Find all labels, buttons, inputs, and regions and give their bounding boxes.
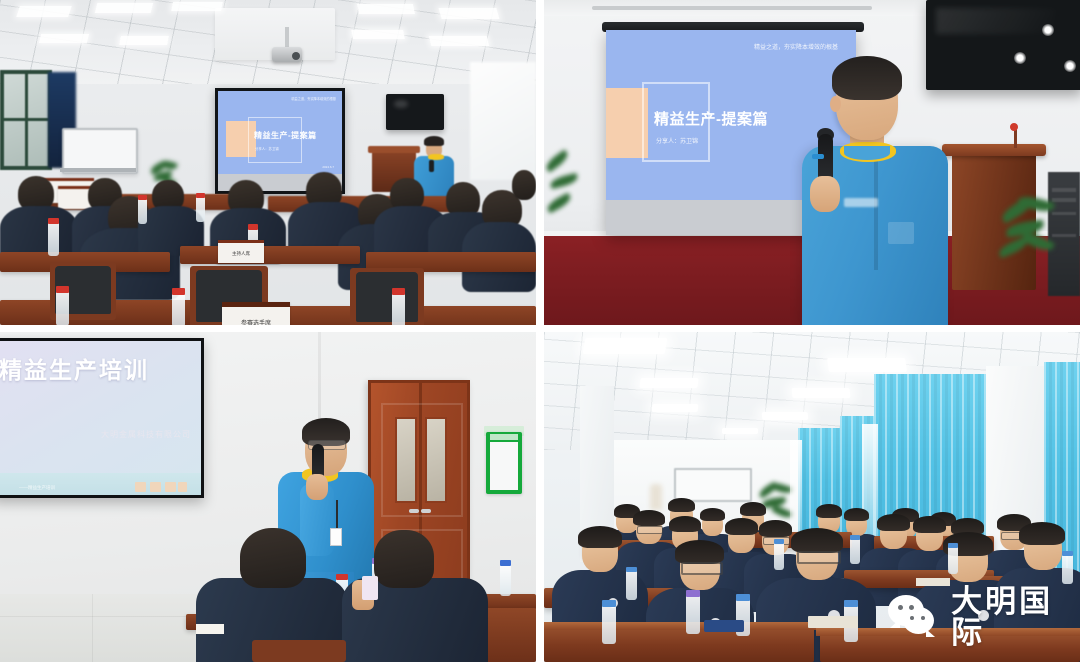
bottle-cap	[172, 288, 185, 295]
podium-mic-head	[1010, 123, 1018, 131]
slide-header-text: 精益之道，夯实降本增效的根基	[291, 96, 336, 101]
attendee-head	[374, 530, 434, 588]
presenter-hair	[832, 56, 902, 100]
presenter-collar-inner	[844, 146, 890, 160]
ceiling-downlight	[1014, 52, 1026, 64]
table-placard: 主持人席	[218, 240, 264, 263]
slide-date-text: 2024.6.7	[322, 165, 334, 169]
bottle-cap	[48, 218, 59, 224]
table-placard-label: 参赛选手席	[222, 318, 290, 325]
microphone-clip	[812, 154, 824, 159]
desk-row	[180, 246, 360, 264]
water-bottle	[774, 542, 784, 570]
water-bottle	[196, 196, 205, 222]
notepad	[808, 616, 858, 628]
bottle-cap	[392, 288, 405, 295]
presenter-hair	[424, 136, 444, 146]
desk-edge	[544, 622, 820, 630]
person-standing-back	[650, 484, 662, 510]
slide-title-text: 精益生产-提案篇	[654, 108, 768, 129]
water-bottle	[626, 570, 637, 600]
ceiling-light	[357, 4, 415, 14]
chair	[252, 640, 346, 662]
wechat-dot	[910, 616, 914, 620]
whiteboard-tray	[60, 168, 136, 172]
projector-mount	[285, 27, 289, 49]
slide-footer-band: ——精益生产培训	[0, 473, 201, 495]
slide-footer-text: ——精益生产培训	[19, 485, 55, 491]
safety-sign	[486, 432, 522, 494]
ceiling-light	[722, 428, 758, 434]
wechat-dot	[909, 605, 914, 610]
bottle-cap	[500, 560, 511, 566]
speaker-lanyard	[336, 500, 338, 528]
bottle-cap	[948, 543, 958, 548]
ceiling-downlight	[1064, 60, 1076, 72]
water-bottle	[500, 564, 511, 596]
wechat-dot	[921, 616, 925, 620]
projection-screen: 精益生产培训 大明金属科技有限公司 ——精益生产培训	[0, 338, 204, 498]
potted-plant	[996, 196, 1066, 276]
speaker-hand	[306, 474, 328, 500]
ceiling-light	[639, 378, 698, 388]
ceiling-light	[351, 30, 405, 39]
whiteboard	[674, 468, 752, 502]
bottle-cap	[56, 286, 69, 293]
safety-sign-paper	[490, 442, 518, 490]
notepad	[916, 578, 950, 586]
attendee-head	[240, 528, 306, 588]
notebook	[196, 624, 224, 634]
ceiling-light	[652, 404, 699, 412]
water-bottle	[56, 290, 69, 325]
water-bottle	[172, 292, 185, 325]
water-bottle	[948, 546, 958, 574]
bottle-cap	[1062, 551, 1073, 556]
ceiling-downlight	[1042, 24, 1054, 36]
window-right	[470, 62, 536, 180]
safety-sign-band	[490, 434, 518, 440]
bottle-cap	[774, 539, 784, 544]
presenter-jacket-placket	[874, 160, 878, 270]
presenter-hand	[810, 176, 840, 212]
podium-top	[942, 144, 1046, 156]
presentation-slide: 精益生产培训 大明金属科技有限公司 ——精益生产培训	[0, 341, 201, 495]
wechat-bubble-tail	[926, 629, 935, 637]
window-left	[0, 70, 52, 170]
water-bottle	[686, 594, 700, 634]
ceiling-light	[119, 36, 169, 45]
photo-collage: 精益之道，夯实降本增效的根基 精益生产-提案篇 分享人：苏卫锦 2024.6.7	[0, 0, 1080, 662]
ceiling-light	[39, 34, 89, 43]
attendee-phone	[362, 576, 378, 600]
watermark: 大明国际	[888, 586, 1080, 648]
ceiling-light	[438, 8, 499, 19]
ceiling-light	[16, 6, 72, 17]
ceiling-light	[429, 36, 489, 46]
table-placard-label: 主持人席	[218, 251, 264, 257]
bottle-cap	[626, 567, 637, 572]
bottle-cap	[850, 535, 860, 540]
water-bottle	[850, 538, 860, 564]
wechat-bubble-small	[903, 607, 934, 634]
slide-presenter-text: 分享人：苏卫锦	[656, 136, 698, 145]
ceiling-light	[827, 358, 907, 372]
attendee-head	[512, 170, 536, 200]
bottle-cap	[686, 590, 700, 597]
presenter-pocket	[888, 222, 914, 244]
tv-reflection	[936, 8, 1056, 34]
slide-title-text: 精益生产-提案篇	[254, 130, 317, 141]
wall-tv	[386, 94, 444, 130]
slide-thumbnails	[135, 482, 189, 492]
screen-rail	[592, 6, 872, 10]
bottle-cap	[602, 600, 616, 607]
wall-tv	[926, 0, 1080, 90]
notebook	[704, 620, 744, 632]
water-bottle	[602, 604, 616, 644]
ceiling-light	[171, 2, 223, 11]
bottle-cap	[336, 574, 348, 580]
slide-title-text: 精益生产培训	[0, 351, 149, 385]
slide-header-text: 精益之道，夯实降本增效的根基	[754, 42, 838, 51]
slide-presenter-text: 分享人：苏卫锦	[255, 146, 279, 151]
ceiling-light	[583, 338, 668, 354]
ceiling-light	[762, 412, 809, 420]
wechat-icon	[888, 595, 939, 639]
collage-panel-top-left: 精益之道，夯实降本增效的根基 精益生产-提案篇 分享人：苏卫锦 2024.6.7	[0, 0, 536, 325]
ceiling-light	[95, 3, 153, 13]
bottle-cap	[196, 193, 205, 198]
presenter-microphone	[429, 160, 434, 172]
water-bottle	[48, 222, 59, 256]
bottle-cap	[844, 600, 858, 607]
table-placard-front: 参赛选手席	[222, 302, 290, 325]
water-bottle	[1062, 554, 1073, 584]
collage-panel-bottom-left: 精益生产培训 大明金属科技有限公司 ——精益生产培训	[0, 332, 536, 662]
potted-plant-left	[544, 150, 578, 240]
watermark-account-name: 大明国际	[951, 586, 1080, 648]
projector-lens-icon	[292, 52, 300, 60]
bottle-cap	[736, 594, 750, 601]
tv-reflection	[394, 100, 408, 108]
chair-seat	[356, 272, 418, 322]
collage-panel-top-right: 精益之道，夯实降本增效的根基 精益生产-提案篇 分享人：苏卫锦 2024.6.7	[544, 0, 1080, 325]
bottle-cap	[138, 195, 147, 200]
water-bottle	[392, 292, 405, 325]
slide-company-text: 大明金属科技有限公司	[101, 429, 191, 440]
presenter-chest-logo	[844, 198, 878, 207]
ceiling-light	[791, 388, 850, 398]
podium-mic-stand	[1014, 128, 1017, 148]
speaker-id-badge	[330, 528, 342, 546]
wechat-dot	[898, 605, 903, 610]
bottle-cap	[248, 224, 258, 230]
presenter-ear	[830, 96, 841, 112]
water-bottle	[138, 198, 147, 224]
